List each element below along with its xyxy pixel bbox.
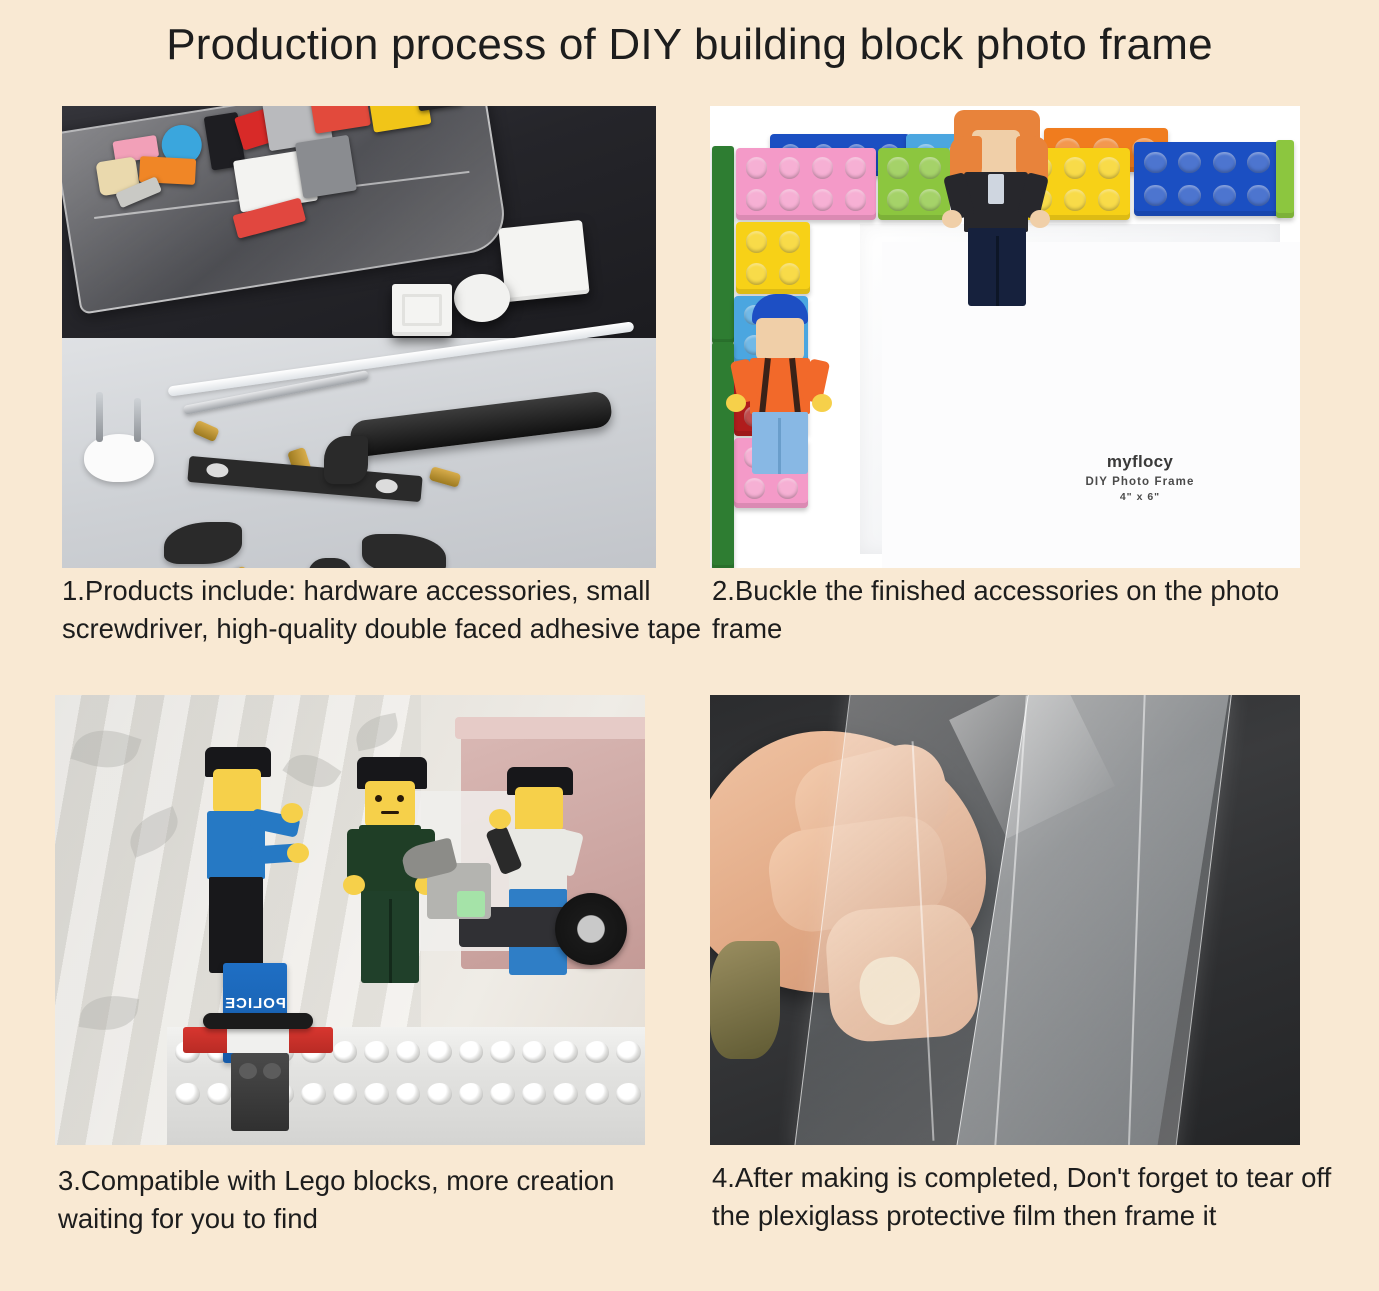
brick-green xyxy=(878,148,950,220)
head xyxy=(213,769,261,813)
red-bar xyxy=(183,1027,333,1053)
pin-right xyxy=(134,398,141,442)
head xyxy=(515,787,563,831)
dark-brick xyxy=(231,1053,289,1131)
hand-right xyxy=(812,394,832,412)
minifigure-rider xyxy=(495,767,605,1017)
arm-left xyxy=(347,829,367,881)
step-4-image xyxy=(710,695,1300,1145)
sleeve xyxy=(710,941,780,1059)
minifigure-woman xyxy=(942,110,1052,306)
white-square-tile xyxy=(498,220,589,302)
legs xyxy=(209,877,263,973)
brick-pink xyxy=(736,148,876,220)
step-1-caption: 1.Products include: hardware accessories… xyxy=(62,572,702,648)
red-bar-white-center xyxy=(227,1027,289,1053)
step-2-caption: 2.Buckle the finished accessories on the… xyxy=(712,572,1332,648)
step-4-caption: 4.After making is completed, Don't forge… xyxy=(712,1159,1342,1235)
hand-right xyxy=(1030,210,1050,228)
frame-label: myflocy DIY Photo Frame 4" x 6" xyxy=(1040,452,1240,503)
infographic-page: Production process of DIY building block… xyxy=(0,0,1379,1291)
brick-green-right-edge xyxy=(1276,140,1294,218)
step-1-image xyxy=(62,106,656,568)
hand-left xyxy=(726,394,746,412)
minifigure-worker xyxy=(732,294,828,474)
pin-left xyxy=(96,392,103,442)
step-3-caption: 3.Compatible with Lego blocks, more crea… xyxy=(58,1162,678,1238)
green-tile xyxy=(457,891,485,917)
head xyxy=(365,781,415,827)
shirt xyxy=(988,174,1004,204)
red-part-2 xyxy=(310,106,371,134)
black-part-2 xyxy=(415,106,463,111)
step-2-image: myflocy DIY Photo Frame 4" x 6" xyxy=(710,106,1300,568)
hand-left xyxy=(489,809,511,829)
step-3-image: POLICE xyxy=(55,695,645,1145)
brick-blue-right xyxy=(1134,142,1280,216)
hand-up xyxy=(281,803,303,823)
brand-name: myflocy xyxy=(1040,452,1240,472)
leg-split xyxy=(389,899,392,983)
white-round-pad xyxy=(454,274,510,322)
police-label: POLICE xyxy=(223,995,287,1012)
white-rect-pad xyxy=(392,284,452,336)
brand-product: DIY Photo Frame xyxy=(1040,476,1240,488)
black-handle xyxy=(203,1013,313,1029)
leg-split xyxy=(778,418,781,474)
hand-down xyxy=(287,843,309,863)
leg-split xyxy=(996,236,999,306)
page-title: Production process of DIY building block… xyxy=(0,20,1379,70)
cabinet-top xyxy=(455,717,645,739)
hook-top xyxy=(324,436,368,484)
hand-left xyxy=(942,210,962,228)
brand-size: 4" x 6" xyxy=(1040,491,1240,503)
brick-yellow-left xyxy=(736,222,810,294)
brick-green-edge-lower xyxy=(712,342,734,568)
vehicle-wheel xyxy=(555,893,627,965)
head xyxy=(756,318,804,360)
brick-green-edge xyxy=(712,146,734,344)
grey-part-2 xyxy=(295,135,357,199)
wall-plug xyxy=(84,434,154,482)
